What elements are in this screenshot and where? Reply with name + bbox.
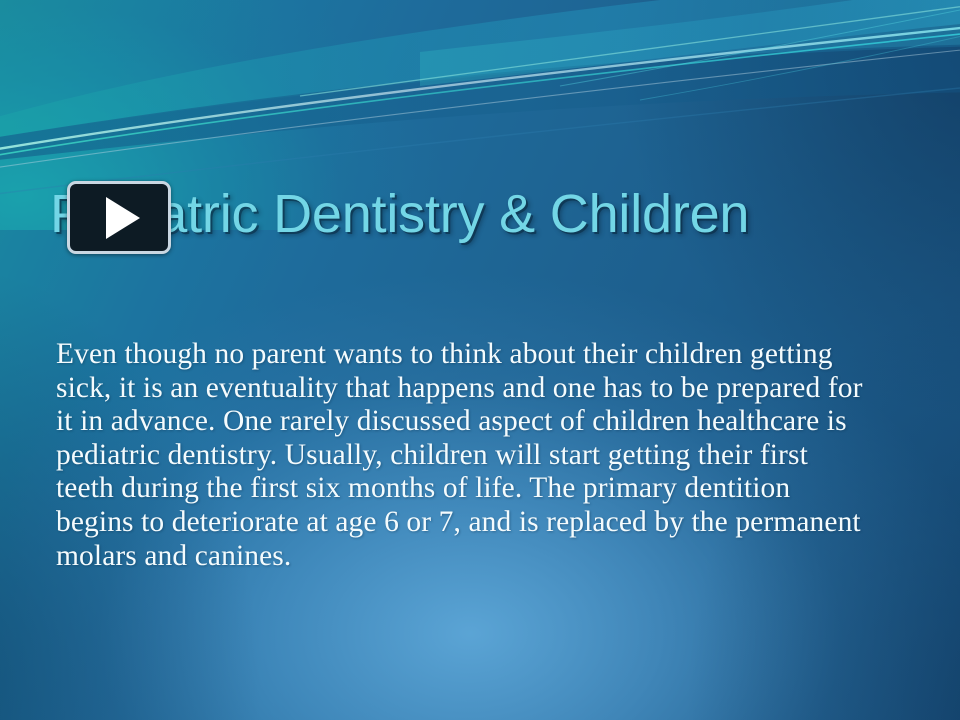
slide-body-paragraph: Even though no parent wants to think abo… bbox=[56, 338, 868, 573]
presentation-slide: Pediatric Dentistry & Children Even thou… bbox=[0, 0, 960, 720]
video-play-button[interactable] bbox=[67, 181, 171, 254]
play-triangle-icon bbox=[106, 197, 140, 239]
slide-title: Pediatric Dentistry & Children bbox=[50, 186, 930, 243]
